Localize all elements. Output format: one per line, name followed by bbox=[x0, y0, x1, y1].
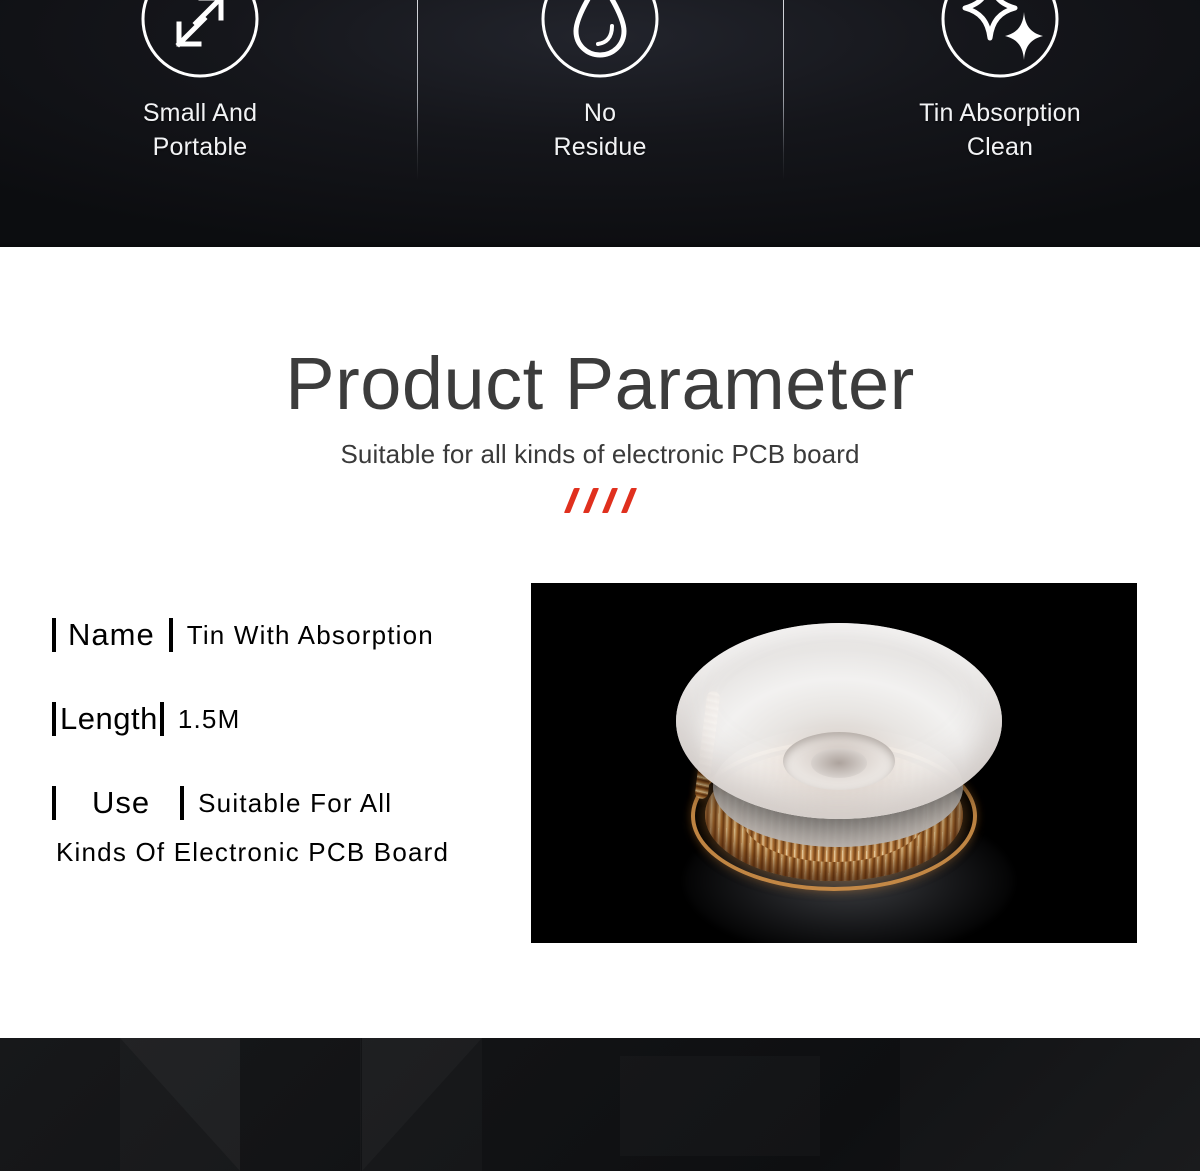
spec-list: Name Tin With Absorption Length 1.5M Use bbox=[52, 617, 532, 869]
water-droplet-icon bbox=[533, 0, 667, 86]
page-subtitle: Suitable for all kinds of electronic PCB… bbox=[0, 438, 1200, 470]
bg-facet bbox=[900, 1038, 1200, 1171]
accent-slash bbox=[563, 488, 579, 513]
feature-item-small-and-portable: Small And Portable bbox=[0, 0, 400, 164]
bg-facet bbox=[620, 1056, 820, 1156]
feature-item-no-residue: No Residue bbox=[400, 0, 800, 164]
compress-arrows-icon bbox=[133, 0, 267, 86]
bg-facet bbox=[360, 1038, 361, 1171]
feature-label: Small And Portable bbox=[0, 96, 400, 164]
product-photo bbox=[531, 583, 1137, 943]
accent-slash bbox=[582, 488, 598, 513]
feature-highlight-bar: Small And Portable No Residue bbox=[0, 0, 1200, 247]
page-title: Product Parameter bbox=[0, 342, 1200, 426]
section-heading-block: Product Parameter Suitable for all kinds… bbox=[0, 342, 1200, 513]
accent-slash-group bbox=[0, 488, 1200, 513]
product-detail-page: Small And Portable No Residue bbox=[0, 0, 1200, 1171]
feature-divider-1 bbox=[417, 0, 418, 180]
spec-row-use: Use Suitable For All Kinds Of Electronic… bbox=[52, 785, 532, 869]
bottom-dark-band bbox=[0, 1038, 1200, 1171]
feature-label: No Residue bbox=[400, 96, 800, 164]
sparkle-shine-icon bbox=[933, 0, 1067, 86]
spec-row-name: Name Tin With Absorption bbox=[52, 617, 532, 653]
feature-divider-2 bbox=[783, 0, 784, 180]
accent-slash bbox=[620, 488, 636, 513]
spec-value: Suitable For All bbox=[184, 786, 392, 820]
product-parameter-section: Product Parameter Suitable for all kinds… bbox=[0, 247, 1200, 1038]
spec-value: Tin With Absorption bbox=[173, 618, 434, 652]
photo-stage bbox=[531, 583, 1137, 943]
feature-list: Small And Portable No Residue bbox=[0, 0, 1200, 200]
feature-label: Tin Absorption Clean bbox=[800, 96, 1200, 164]
spec-key: Name bbox=[56, 617, 169, 653]
accent-slash bbox=[601, 488, 617, 513]
spec-row-length: Length 1.5M bbox=[52, 701, 532, 737]
spec-key: Length bbox=[56, 701, 160, 737]
spec-value: 1.5M bbox=[164, 702, 241, 736]
feature-item-tin-absorption-clean: Tin Absorption Clean bbox=[800, 0, 1200, 164]
spec-value-continued: Kinds Of Electronic PCB Board bbox=[52, 835, 532, 869]
bg-facet bbox=[362, 1038, 482, 1171]
bg-facet bbox=[120, 1038, 240, 1171]
plastic-spool-cone bbox=[676, 623, 1002, 819]
spec-key: Use bbox=[56, 785, 180, 821]
